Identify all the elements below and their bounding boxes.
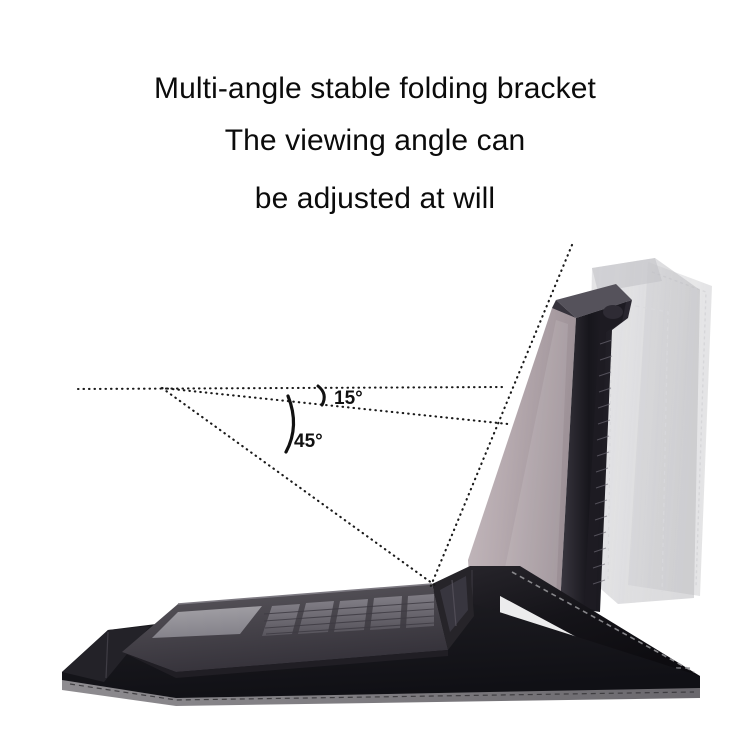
product-photo-illustration (0, 0, 750, 750)
product-marketing-image: Multi-angle stable folding bracket The v… (0, 0, 750, 750)
